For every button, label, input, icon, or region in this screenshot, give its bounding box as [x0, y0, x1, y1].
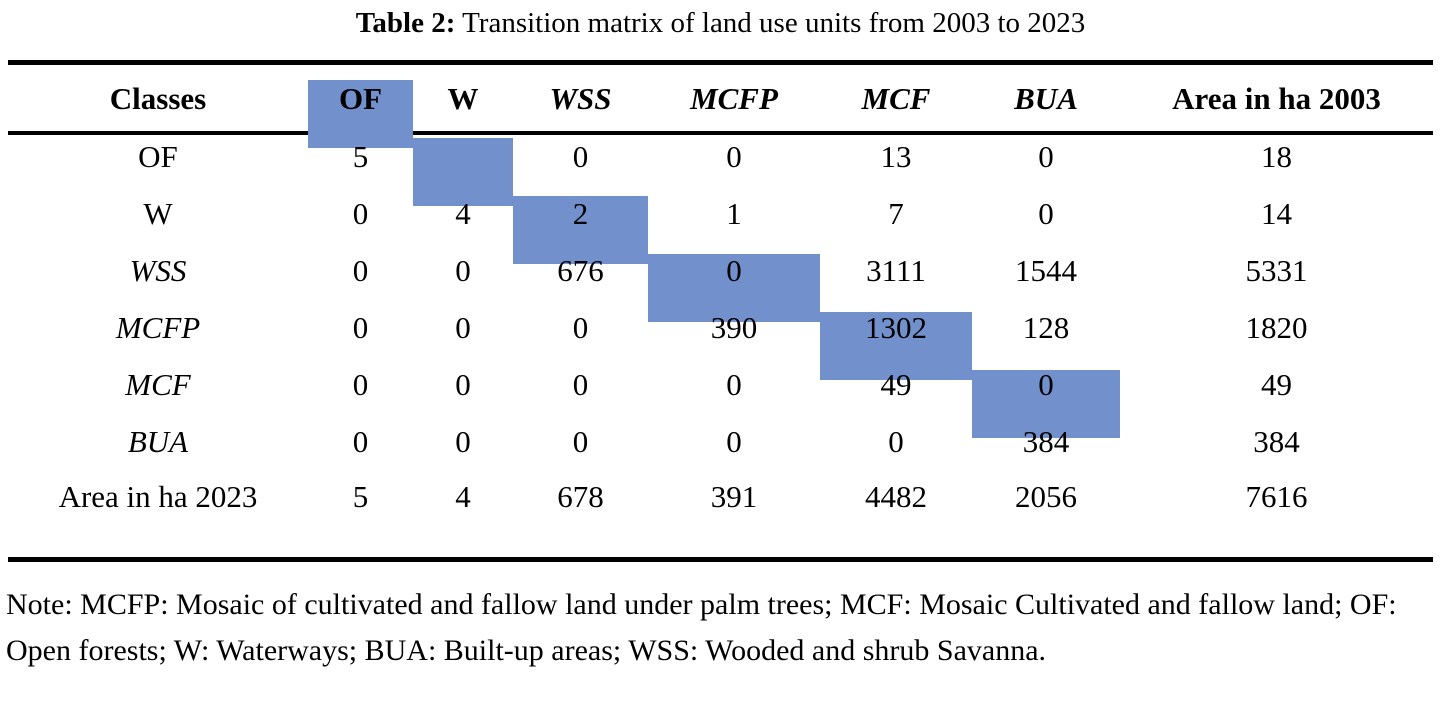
table-row: MCF 0 0 0 0 49 0 49 [8, 356, 1433, 413]
table-caption-label: Table 2: [356, 7, 456, 39]
cell-mcf-w: 0 [413, 367, 513, 403]
header-cell-area-2003: Area in ha 2003 [1120, 81, 1433, 117]
cell-wss-w: 0 [413, 253, 513, 289]
cell-w-mcf: 7 [820, 196, 972, 232]
table-note: Note: MCFP: Mosaic of cultivated and fal… [6, 582, 1438, 674]
header-cell-wss: WSS [513, 81, 648, 117]
cell-of-bua: 0 [972, 139, 1120, 175]
cell-total-mcf: 4482 [820, 479, 972, 515]
cell-w-total: 14 [1120, 196, 1433, 232]
cell-of-mcf: 13 [820, 139, 972, 175]
header-cell-w: W [413, 81, 513, 117]
cell-mcfp-of: 0 [308, 310, 413, 346]
table-total-row: Area in ha 2023 5 4 678 391 4482 2056 76… [8, 470, 1433, 524]
table-figure: Table 2: Transition matrix of land use u… [0, 0, 1441, 727]
cell-wss-bua: 1544 [972, 253, 1120, 289]
cell-mcfp-w: 0 [413, 310, 513, 346]
cell-mcfp-wss: 0 [513, 310, 648, 346]
table-bottom-rule [8, 557, 1433, 562]
table-header-row: Classes OF W WSS MCFP MCF BUA Area in ha… [8, 70, 1433, 128]
cell-bua-w: 0 [413, 424, 513, 460]
row-label-wss: WSS [8, 253, 308, 289]
cell-mcfp-mcf: 1302 [820, 310, 972, 346]
table-caption-text: Transition matrix of land use units from… [462, 7, 1085, 39]
header-cell-of: OF [308, 81, 413, 117]
cell-mcf-total: 49 [1120, 367, 1433, 403]
cell-w-wss: 2 [513, 196, 648, 232]
cell-bua-wss: 0 [513, 424, 648, 460]
row-label-mcfp: MCFP [8, 310, 308, 346]
row-label-area-2023: Area in ha 2023 [8, 479, 308, 515]
table-row: OF 5 0 0 13 0 18 [8, 128, 1433, 185]
cell-w-of: 0 [308, 196, 413, 232]
row-label-w: W [8, 196, 308, 232]
cell-of-wss: 0 [513, 139, 648, 175]
cell-of-mcfp: 0 [648, 139, 820, 175]
cell-mcfp-bua: 128 [972, 310, 1120, 346]
cell-mcf-mcfp: 0 [648, 367, 820, 403]
cell-bua-bua: 384 [972, 424, 1120, 460]
cell-grand-total: 7616 [1120, 479, 1433, 515]
cell-wss-of: 0 [308, 253, 413, 289]
row-label-bua: BUA [8, 424, 308, 460]
cell-total-wss: 678 [513, 479, 648, 515]
table-row: BUA 0 0 0 0 0 384 384 [8, 413, 1433, 470]
cell-wss-mcf: 3111 [820, 253, 972, 289]
cell-total-mcfp: 391 [648, 479, 820, 515]
row-label-of: OF [8, 139, 308, 175]
header-cell-mcfp: MCFP [648, 81, 820, 117]
row-label-mcf: MCF [8, 367, 308, 403]
cell-bua-of: 0 [308, 424, 413, 460]
cell-wss-wss: 676 [513, 253, 648, 289]
cell-wss-mcfp: 0 [648, 253, 820, 289]
cell-w-bua: 0 [972, 196, 1120, 232]
table-top-rule [8, 60, 1433, 65]
header-cell-classes: Classes [8, 81, 308, 117]
cell-w-mcfp: 1 [648, 196, 820, 232]
cell-mcf-wss: 0 [513, 367, 648, 403]
cell-bua-mcfp: 0 [648, 424, 820, 460]
header-cell-mcf: MCF [820, 81, 972, 117]
cell-bua-mcf: 0 [820, 424, 972, 460]
cell-total-of: 5 [308, 479, 413, 515]
cell-total-bua: 2056 [972, 479, 1120, 515]
cell-of-of: 5 [308, 139, 413, 175]
cell-w-w: 4 [413, 196, 513, 232]
cell-mcfp-total: 1820 [1120, 310, 1433, 346]
cell-bua-total: 384 [1120, 424, 1433, 460]
cell-mcfp-mcfp: 390 [648, 310, 820, 346]
cell-wss-total: 5331 [1120, 253, 1433, 289]
cell-total-w: 4 [413, 479, 513, 515]
table-grid: Classes OF W WSS MCFP MCF BUA Area in ha… [8, 70, 1433, 524]
cell-mcf-mcf: 49 [820, 367, 972, 403]
table-caption: Table 2: Transition matrix of land use u… [0, 4, 1441, 42]
header-cell-bua: BUA [972, 81, 1120, 117]
table-row: W 0 4 2 1 7 0 14 [8, 185, 1433, 242]
cell-mcf-bua: 0 [972, 367, 1120, 403]
cell-mcf-of: 0 [308, 367, 413, 403]
cell-of-total: 18 [1120, 139, 1433, 175]
